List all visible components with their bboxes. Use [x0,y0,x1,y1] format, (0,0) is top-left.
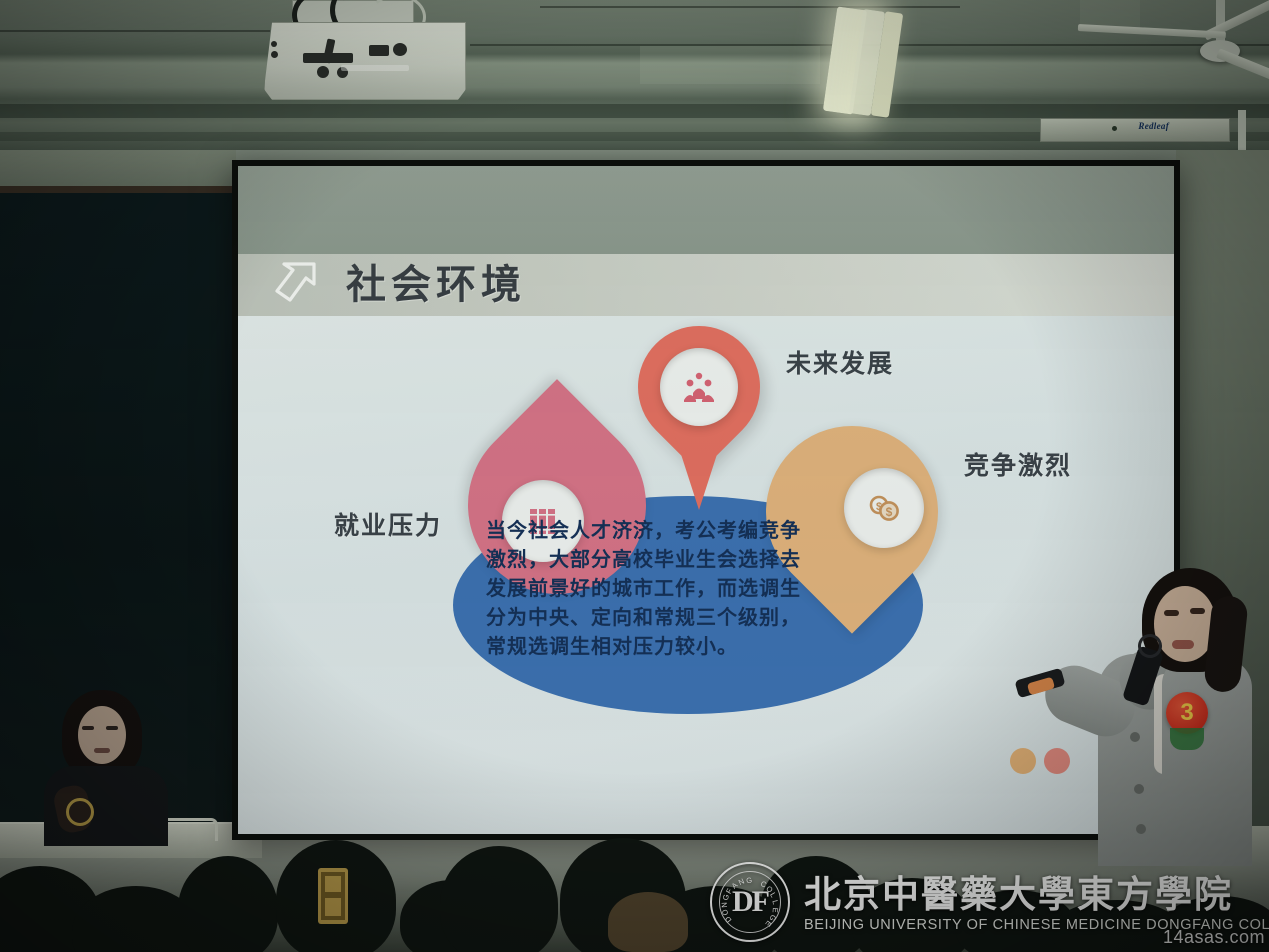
badge-ribbon [1170,728,1204,750]
judge-hand-item [66,798,94,826]
ceiling-panel [640,46,820,84]
slide-title: 社会环境 [346,258,526,312]
body-line: 分为中央、定向和常规三个级别， [486,603,896,632]
projector-vent [341,65,409,71]
coat-button [1136,824,1146,834]
label-compete: 竞争激烈 [964,446,1072,482]
housing-led [1112,126,1117,131]
dongfang-college-logo: DF DONGFANG COLLEGE [710,862,790,942]
audience-head [440,846,558,952]
logo-initials: DF [732,885,768,919]
ceiling-seam [0,30,270,32]
screenshot-root: Redleaf 社会环境 [0,0,1269,952]
presenter-coat-right [1162,658,1252,866]
projector-port [393,43,407,56]
coat-button [1130,732,1140,742]
ceiling-seam [540,6,960,8]
ceiling-projector [264,22,466,100]
housing-brand-label: Redleaf [1138,121,1169,131]
slide-top-bar [238,166,1174,254]
judge-mouth [94,748,110,753]
presenter-mouth [1172,640,1194,649]
coat-button [1134,784,1144,794]
body-line: 发展前景好的城市工作，而选调生 [486,574,896,603]
pin-disc-future [660,348,738,426]
body-line: 当今社会人才济济，考公考编竞争 [486,516,896,545]
projector-led [271,41,277,47]
hair-clip [318,868,348,924]
projector-led [271,51,278,58]
presenter-eye [1164,610,1179,616]
body-line: 激烈，大部分高校毕业生会选择去 [486,545,896,574]
site-watermark: 14asas.com [1163,927,1265,948]
audience-head [178,856,278,952]
judge-eye [106,726,118,730]
body-line: 常规选调生相对压力较小。 [486,632,896,661]
audience-head-brown [608,892,688,952]
watermark-chinese: 北京中醫藥大學東方學院 [804,872,1269,916]
curved-arrow-icon [268,258,326,312]
label-future: 未来发展 [786,344,894,380]
projector-port [317,66,329,78]
body-text: 当今社会人才济济，考公考编竞争 激烈，大部分高校毕业生会选择去 发展前景好的城市… [486,516,896,661]
projector-port [369,45,389,56]
people-group-icon [682,372,716,402]
judge-eye [82,726,94,730]
ceiling-beam [0,104,1269,118]
presenter: 3 [1002,562,1252,862]
presenter-eye [1190,608,1205,614]
seated-judge [40,690,170,830]
judge-face [78,706,126,764]
screen-housing: Redleaf [1040,118,1230,142]
label-pressure: 就业压力 [334,506,442,542]
